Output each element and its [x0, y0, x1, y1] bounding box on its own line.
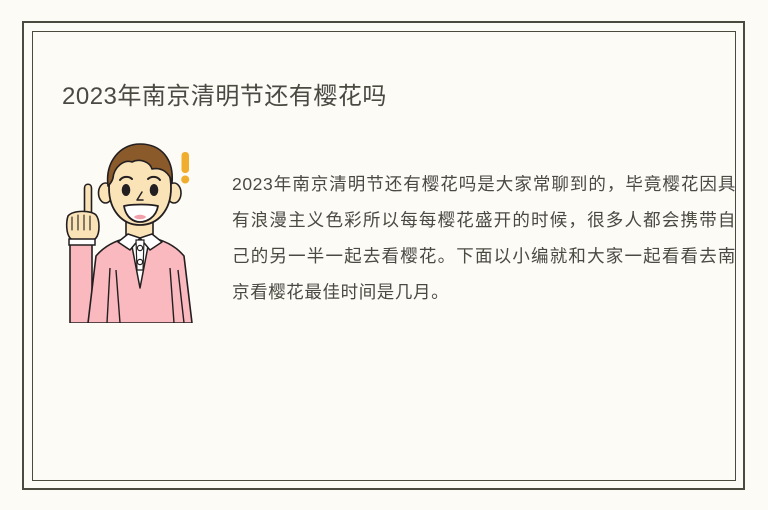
pointing-hand: [67, 184, 99, 245]
article-body-text: 2023年南京清明节还有樱花吗是大家常聊到的，毕竟樱花因具有浪漫主义色彩所以每每…: [232, 166, 736, 310]
exclamation-icon: [181, 152, 189, 184]
page-root: 2023年南京清明节还有樱花吗: [0, 0, 768, 510]
page-title: 2023年南京清明节还有樱花吗: [62, 80, 387, 114]
man-pointing-up-illustration: [58, 138, 213, 323]
article-content: 2023年南京清明节还有樱花吗: [0, 0, 768, 510]
